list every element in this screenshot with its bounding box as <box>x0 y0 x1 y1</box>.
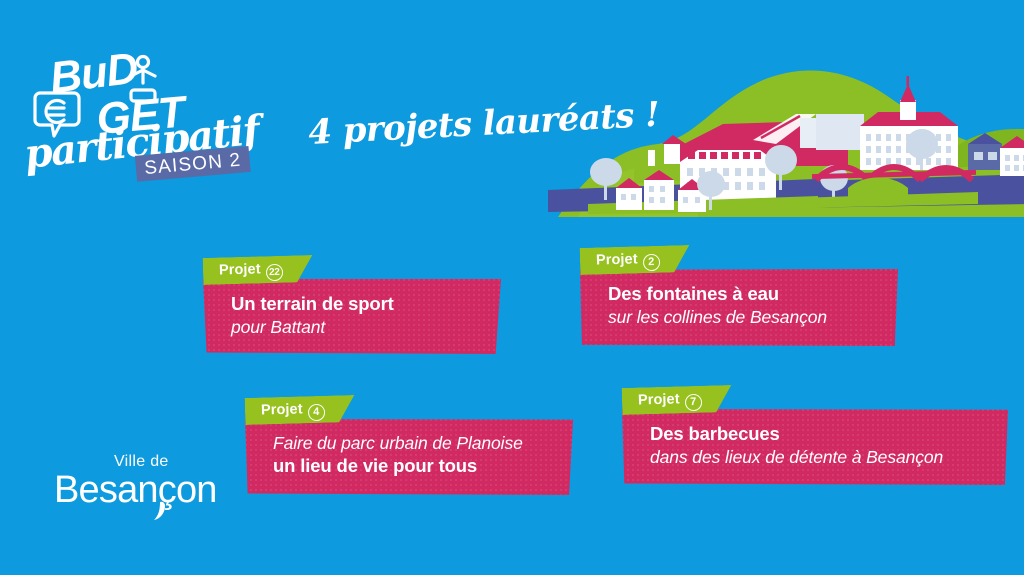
project-tab-label: Projet <box>638 391 680 408</box>
project-title-line1: Un terrain de sport <box>231 292 481 316</box>
city-logo-line2: Besançon <box>54 469 217 511</box>
project-card-4[interactable]: Projet4 Faire du parc urbain de Planoise… <box>245 398 575 495</box>
project-tab-label: Projet <box>596 251 638 268</box>
project-card-7[interactable]: Projet7 Des barbecues dans des lieux de … <box>622 388 1010 485</box>
project-panel-4: Faire du parc urbain de Planoise un lieu… <box>245 419 573 495</box>
project-title-line1: Des fontaines à eau <box>608 282 878 306</box>
project-tab-22: Projet22 <box>203 255 313 285</box>
project-number-badge: 2 <box>643 254 660 271</box>
project-number-badge: 22 <box>266 264 283 281</box>
city-logo-line1: Ville de <box>114 453 169 470</box>
project-card-2[interactable]: Projet2 Des fontaines à eau sur les coll… <box>580 248 900 346</box>
project-title-line2: dans des lieux de détente à Besançon <box>650 446 988 468</box>
project-tab-4: Projet4 <box>245 395 355 425</box>
project-tab-label: Projet <box>219 261 261 278</box>
ville-de-besancon-logo: Ville de Besançon <box>52 448 232 520</box>
project-title-line2: pour Battant <box>231 316 481 338</box>
project-title-line2: un lieu de vie pour tous <box>273 454 553 478</box>
poster-canvas: BuD GET participatif SAISON 2 4 projets … <box>0 0 1024 575</box>
project-panel-7: Des barbecues dans des lieux de détente … <box>622 409 1008 485</box>
project-tab-2: Projet2 <box>580 245 690 275</box>
project-title-line1: Des barbecues <box>650 422 988 446</box>
project-panel-2: Des fontaines à eau sur les collines de … <box>580 269 898 346</box>
project-card-22[interactable]: Projet22 Un terrain de sport pour Battan… <box>203 258 503 354</box>
project-tab-label: Projet <box>261 401 303 418</box>
besancon-cityscape-illustration <box>548 52 1024 217</box>
project-panel-22: Un terrain de sport pour Battant <box>203 279 501 354</box>
project-number-badge: 4 <box>308 404 325 421</box>
budget-participatif-logo: BuD GET participatif SAISON 2 <box>18 38 268 188</box>
project-number-badge: 7 <box>685 394 702 411</box>
project-title-line2: sur les collines de Besançon <box>608 306 878 328</box>
project-title-line1: Faire du parc urbain de Planoise <box>273 432 553 454</box>
project-tab-7: Projet7 <box>622 385 732 415</box>
